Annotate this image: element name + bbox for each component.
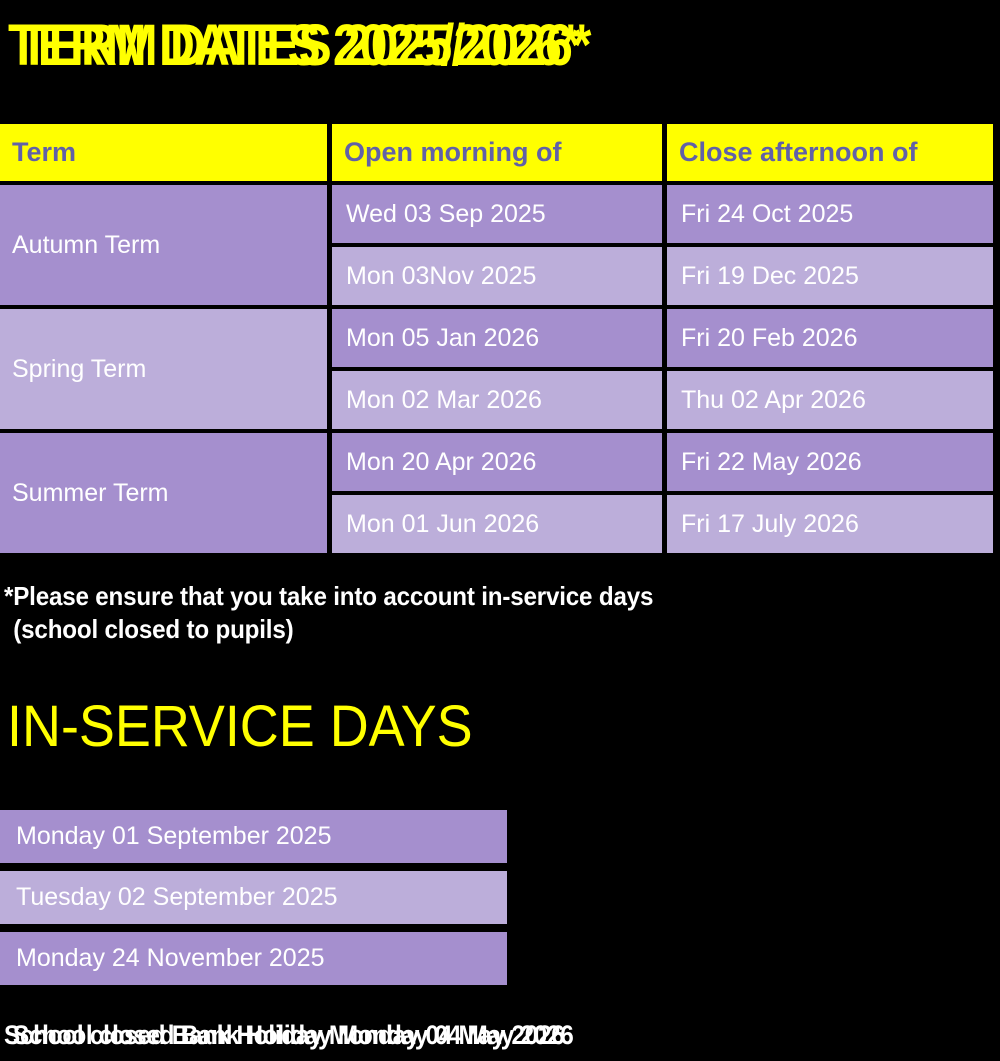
open-date-cell: Mon 05 Jan 2026 [332, 309, 662, 367]
term-name-cell: Spring Term [0, 309, 327, 429]
close-date-cell: Fri 22 May 2026 [667, 433, 993, 491]
footnote-line-2: (school closed to pupils) [4, 613, 897, 646]
open-date-cell: Mon 02 Mar 2026 [332, 371, 662, 429]
term-date-row: Wed 03 Sep 2025 Fri 24 Oct 2025 [327, 185, 988, 243]
close-date-cell: Fri 24 Oct 2025 [667, 185, 993, 243]
page-title-text-ghost: TERM DATES 2025/2026* [19, 14, 591, 78]
page-title: TERM DATES 2025/2026* TERM DATES 2025/20… [8, 14, 988, 86]
term-date-row: Mon 05 Jan 2026 Fri 20 Feb 2026 [327, 309, 988, 367]
term-date-stack: Mon 20 Apr 2026 Fri 22 May 2026 Mon 01 J… [327, 433, 988, 553]
close-date-cell: Fri 17 July 2026 [667, 495, 993, 553]
term-name-cell: Summer Term [0, 433, 327, 553]
close-date-cell: Fri 19 Dec 2025 [667, 247, 993, 305]
term-date-row: Mon 01 Jun 2026 Fri 17 July 2026 [327, 495, 988, 553]
term-date-row: Mon 02 Mar 2026 Thu 02 Apr 2026 [327, 371, 988, 429]
open-date-cell: Mon 03Nov 2025 [332, 247, 662, 305]
term-date-row: Mon 20 Apr 2026 Fri 22 May 2026 [327, 433, 988, 491]
list-item: Monday 24 November 2025 [0, 932, 507, 985]
inservice-days-list: Monday 01 September 2025 Tuesday 02 Sept… [0, 810, 507, 985]
table-row: Spring Term Mon 05 Jan 2026 Fri 20 Feb 2… [0, 309, 993, 429]
bank-holiday-note: School closed Bank Holiday Monday 04 May… [4, 1018, 994, 1058]
table-row: Autumn Term Wed 03 Sep 2025 Fri 24 Oct 2… [0, 185, 993, 305]
footnote-line-1: *Please ensure that you take into accoun… [4, 580, 897, 613]
open-date-cell: Wed 03 Sep 2025 [332, 185, 662, 243]
list-item: Monday 01 September 2025 [0, 810, 507, 863]
term-name-cell: Autumn Term [0, 185, 327, 305]
column-header-term: Term [0, 124, 327, 181]
term-date-stack: Mon 05 Jan 2026 Fri 20 Feb 2026 Mon 02 M… [327, 309, 988, 429]
open-date-cell: Mon 01 Jun 2026 [332, 495, 662, 553]
column-header-close: Close afternoon of [667, 124, 993, 181]
term-date-row: Mon 03Nov 2025 Fri 19 Dec 2025 [327, 247, 988, 305]
close-date-cell: Fri 20 Feb 2026 [667, 309, 993, 367]
table-header-row: Term Open morning of Close afternoon of [0, 124, 993, 181]
inservice-days-heading: IN-SERVICE DAYS [7, 694, 473, 760]
term-dates-table: Term Open morning of Close afternoon of … [0, 124, 993, 553]
bank-holiday-note-text-ghost: School closed Bank Holiday Monday 04 May… [13, 1018, 573, 1052]
column-header-open: Open morning of [332, 124, 662, 181]
open-date-cell: Mon 20 Apr 2026 [332, 433, 662, 491]
footnote: *Please ensure that you take into accoun… [4, 580, 897, 646]
table-row: Summer Term Mon 20 Apr 2026 Fri 22 May 2… [0, 433, 993, 553]
term-date-stack: Wed 03 Sep 2025 Fri 24 Oct 2025 Mon 03No… [327, 185, 988, 305]
close-date-cell: Thu 02 Apr 2026 [667, 371, 993, 429]
list-item: Tuesday 02 September 2025 [0, 871, 507, 924]
